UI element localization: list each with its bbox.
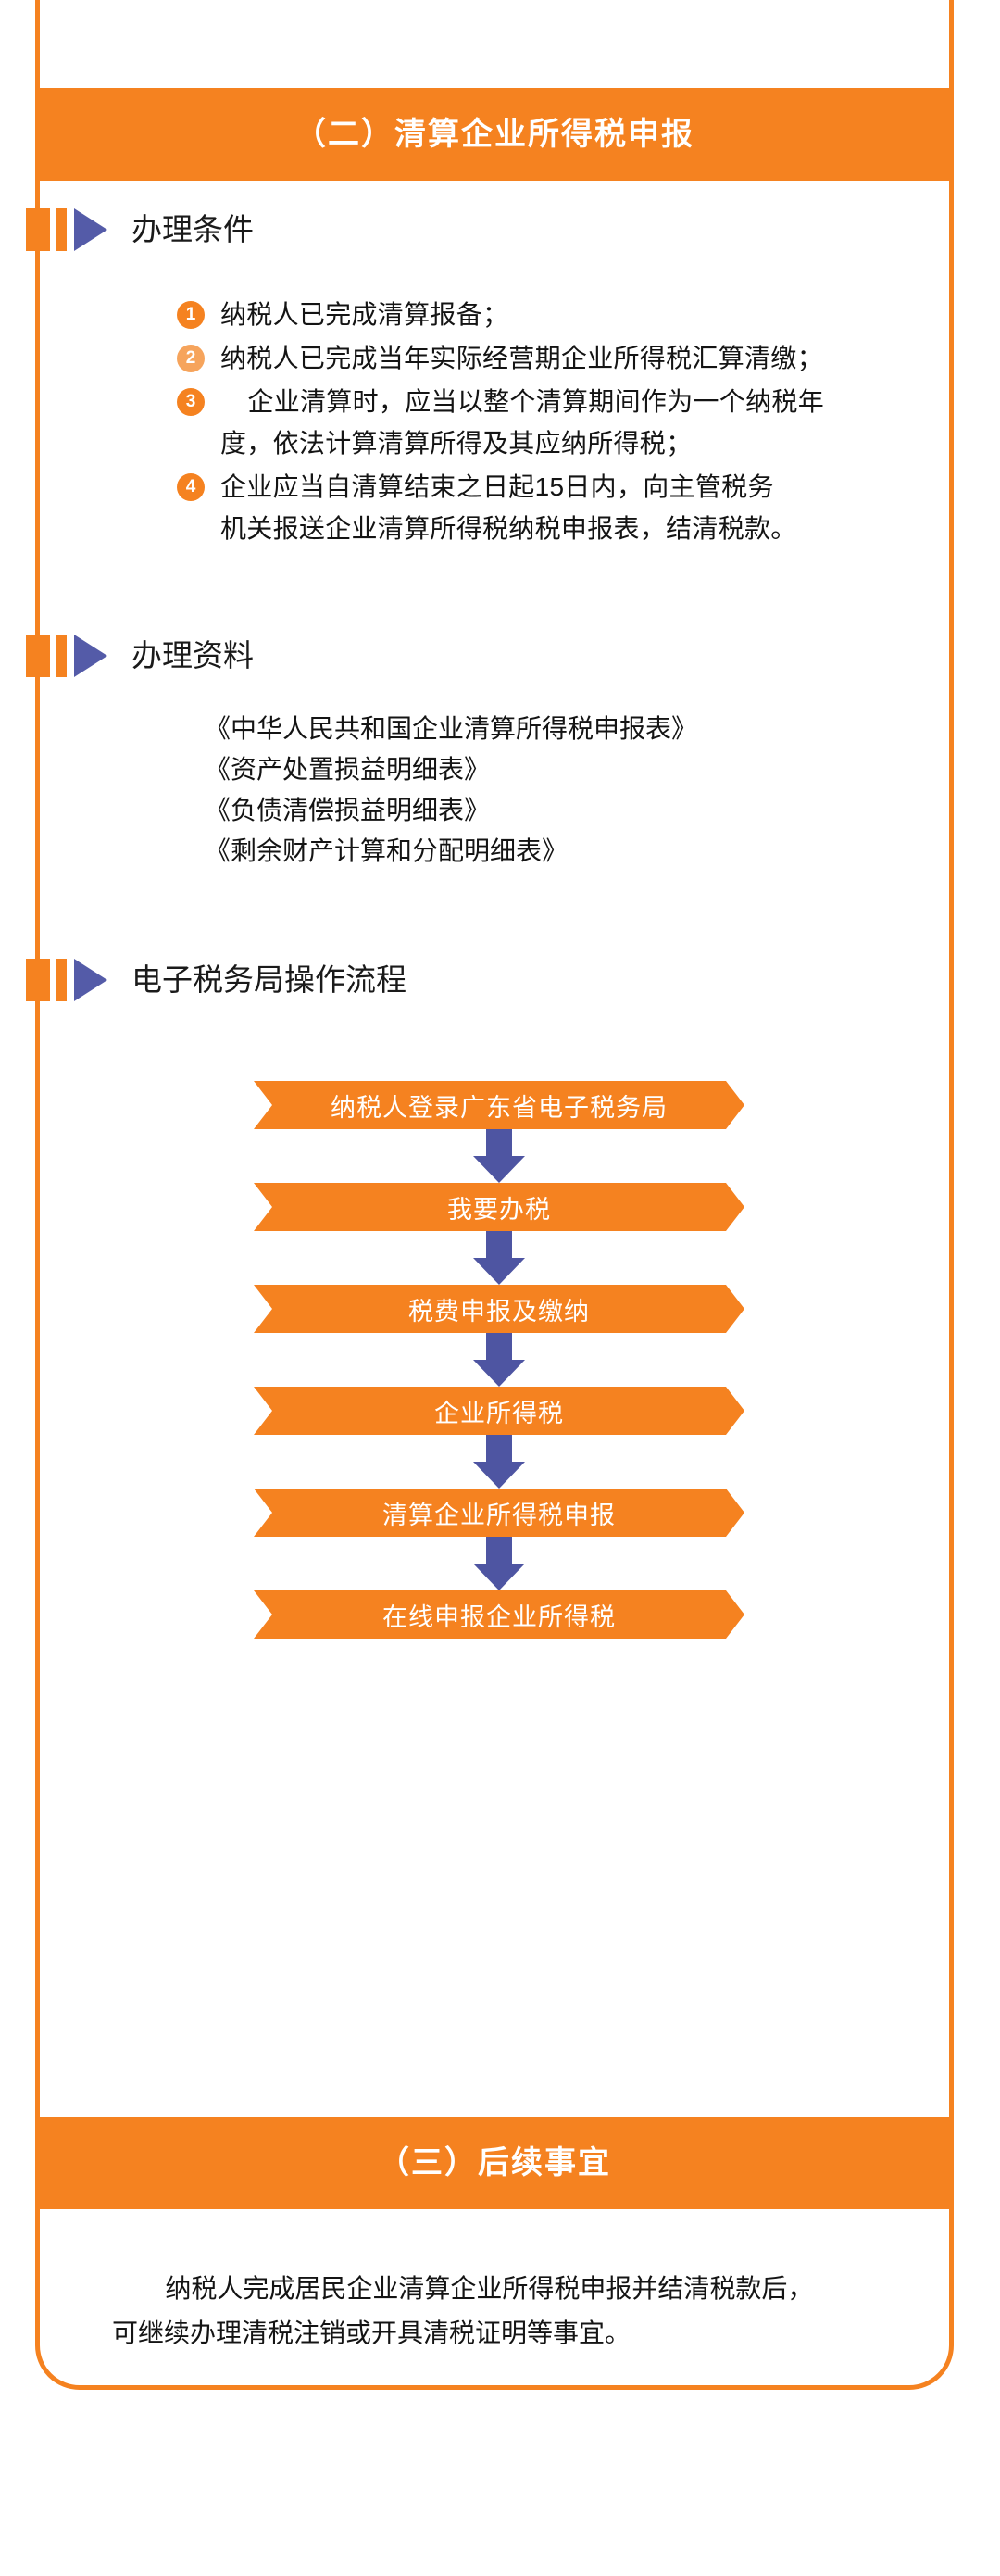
- arrow-down-icon: [473, 1435, 525, 1489]
- list-item-line: 企业应当自清算结束之日起15日内，向主管税务: [220, 466, 797, 508]
- triangle-right-icon: [74, 959, 107, 1001]
- list-item-text: 企业应当自清算结束之日起15日内，向主管税务 机关报送企业清算所得税纳税申报表，…: [220, 466, 797, 549]
- flow-step-label: 我要办税: [447, 1189, 551, 1225]
- list-item: 2 纳税人已完成当年实际经营期企业所得税汇算清缴；: [177, 337, 936, 379]
- list-item: 4 企业应当自清算结束之日起15日内，向主管税务 机关报送企业清算所得税纳税申报…: [177, 466, 936, 549]
- section-banner-three: （三）后续事宜: [35, 2117, 954, 2209]
- arrow-shaft: [486, 1231, 512, 1259]
- flow-step-label: 纳税人登录广东省电子税务局: [331, 1087, 668, 1124]
- arrow-down-icon: [473, 1231, 525, 1285]
- spacer: [67, 635, 74, 677]
- list-item: 《资产处置损益明细表》: [205, 749, 697, 790]
- flow-step-label: 清算企业所得税申报: [382, 1495, 616, 1531]
- spacer: [67, 208, 74, 251]
- section-banner-three-title: （三）后续事宜: [378, 2147, 611, 2179]
- arrow-head: [473, 1258, 525, 1285]
- list-item-text: 纳税人已完成清算报备；: [220, 294, 508, 335]
- flow-step[interactable]: 税费申报及缴纳: [254, 1285, 744, 1333]
- arrow-down-icon: [473, 1537, 525, 1590]
- arrow-head: [473, 1360, 525, 1387]
- orange-bar-icon: [56, 635, 67, 677]
- list-item-line: 机关报送企业清算所得税纳税申报表，结清税款。: [220, 508, 797, 549]
- list-item-line: 度，依法计算清算所得及其应纳所得税；: [220, 422, 824, 464]
- list-item: 3 企业清算时，应当以整个清算期间作为一个纳税年 度，依法计算清算所得及其应纳所…: [177, 381, 936, 464]
- flow-step[interactable]: 企业所得税: [254, 1387, 744, 1435]
- flow-step[interactable]: 纳税人登录广东省电子税务局: [254, 1081, 744, 1129]
- closing-paragraph: 纳税人完成居民企业清算企业所得税申报并结清税款后， 可继续办理清税注销或开具清税…: [112, 2267, 890, 2356]
- spacer: [67, 959, 74, 1001]
- list-number-badge: 4: [177, 473, 205, 501]
- list-number-badge: 3: [177, 388, 205, 416]
- heading-eprocess: 电子税务局操作流程: [35, 959, 406, 1001]
- list-item: 《负债清偿损益明细表》: [205, 790, 697, 831]
- list-item-text: 纳税人已完成当年实际经营期企业所得税汇算清缴；: [220, 337, 823, 379]
- arrow-down-icon: [473, 1333, 525, 1387]
- section-banner-two-title: （二）清算企业所得税申报: [294, 119, 694, 150]
- orange-bar-icon: [56, 959, 67, 1001]
- flow-step[interactable]: 清算企业所得税申报: [254, 1489, 744, 1537]
- list-item-text: 企业清算时，应当以整个清算期间作为一个纳税年 度，依法计算清算所得及其应纳所得税…: [220, 381, 824, 464]
- eprocess-flowchart: 纳税人登录广东省电子税务局 我要办税 税费申报及缴纳 企业所得税 清算企: [40, 1081, 958, 1639]
- infographic-card: （二）清算企业所得税申报 办理条件 1 纳税人已完成清算报备； 2 纳税人已完成…: [35, 0, 954, 2390]
- arrow-shaft: [486, 1333, 512, 1361]
- heading-conditions-label: 办理条件: [131, 208, 254, 251]
- conditions-list: 1 纳税人已完成清算报备； 2 纳税人已完成当年实际经营期企业所得税汇算清缴； …: [177, 294, 936, 551]
- flow-step[interactable]: 在线申报企业所得税: [254, 1590, 744, 1639]
- heading-materials: 办理资料: [35, 635, 254, 677]
- triangle-right-icon: [74, 208, 107, 251]
- spacer: [50, 208, 56, 251]
- closing-paragraph-line: 可继续办理清税注销或开具清税证明等事宜。: [112, 2311, 890, 2356]
- orange-block-icon: [26, 635, 50, 677]
- section-banner-two: （二）清算企业所得税申报: [35, 88, 954, 181]
- orange-block-icon: [26, 959, 50, 1001]
- flow-step-label: 企业所得税: [434, 1393, 564, 1429]
- heading-eprocess-label: 电子税务局操作流程: [131, 959, 406, 1001]
- arrow-down-icon: [473, 1129, 525, 1183]
- list-number-badge: 2: [177, 345, 205, 372]
- arrow-head: [473, 1156, 525, 1183]
- list-item: 1 纳税人已完成清算报备；: [177, 294, 936, 335]
- heading-materials-label: 办理资料: [131, 635, 254, 677]
- heading-conditions: 办理条件: [35, 208, 254, 251]
- list-item-line: 企业清算时，应当以整个清算期间作为一个纳税年: [220, 381, 824, 422]
- orange-block-icon: [26, 208, 50, 251]
- materials-list: 《中华人民共和国企业清算所得税申报表》 《资产处置损益明细表》 《负债清偿损益明…: [205, 709, 697, 872]
- orange-bar-icon: [56, 208, 67, 251]
- arrow-head: [473, 1564, 525, 1590]
- list-item-line: 纳税人已完成当年实际经营期企业所得税汇算清缴；: [220, 337, 823, 379]
- list-number-badge: 1: [177, 301, 205, 329]
- list-item: 《中华人民共和国企业清算所得税申报表》: [205, 709, 697, 749]
- triangle-right-icon: [74, 635, 107, 677]
- flow-step-label: 在线申报企业所得税: [382, 1597, 616, 1633]
- flow-step[interactable]: 我要办税: [254, 1183, 744, 1231]
- spacer: [50, 959, 56, 1001]
- flow-step-label: 税费申报及缴纳: [408, 1291, 590, 1327]
- arrow-shaft: [486, 1435, 512, 1463]
- closing-paragraph-line: 纳税人完成居民企业清算企业所得税申报并结清税款后，: [112, 2267, 890, 2311]
- arrow-head: [473, 1462, 525, 1489]
- arrow-shaft: [486, 1537, 512, 1564]
- spacer: [50, 635, 56, 677]
- list-item: 《剩余财产计算和分配明细表》: [205, 831, 697, 872]
- arrow-shaft: [486, 1129, 512, 1157]
- list-item-line: 纳税人已完成清算报备；: [220, 294, 508, 335]
